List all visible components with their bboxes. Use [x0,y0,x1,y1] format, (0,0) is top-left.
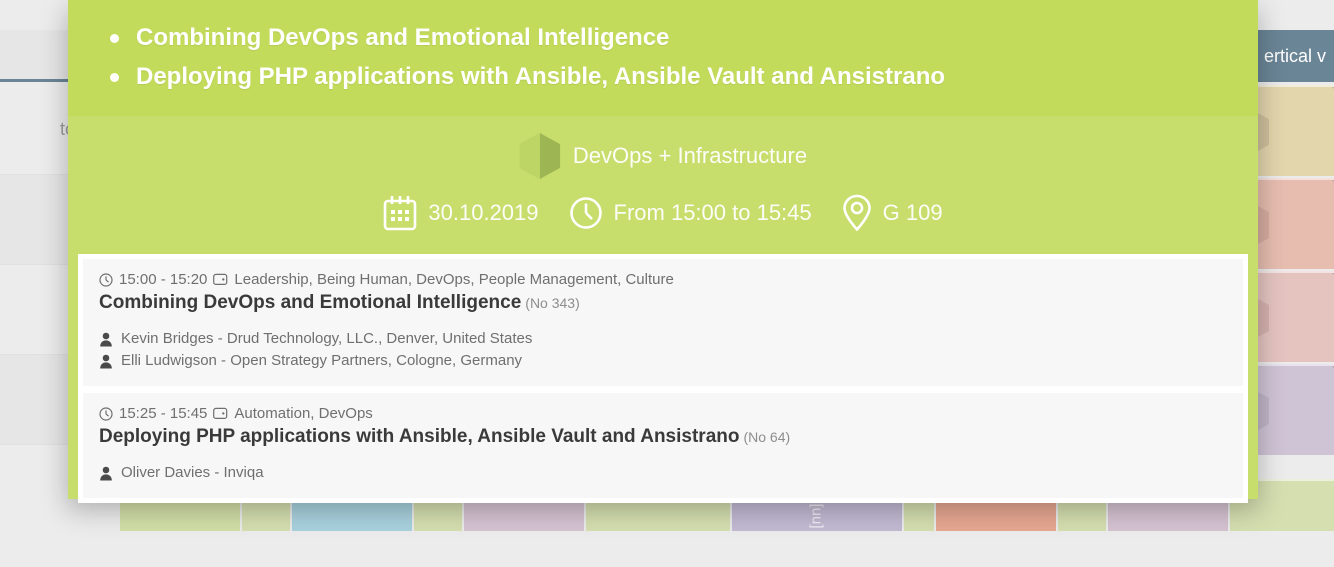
vertical-view-toggle-button[interactable]: ertical v [1248,30,1334,82]
session-detail-popup: Combining DevOps and Emotional Intellige… [68,0,1258,499]
popup-room-text: G 109 [883,200,943,226]
person-icon [99,332,113,347]
session-tags-text: Leadership, Being Human, DevOps, People … [234,271,673,288]
schedule-footer [0,531,1334,567]
popup-fact-time: From 15:00 to 15:45 [569,196,812,230]
popup-headline-item: Combining DevOps and Emotional Intellige… [102,18,1224,57]
popup-date-text: 30.10.2019 [428,200,538,226]
session-time: 15:25 - 15:45 [99,405,207,422]
speaker-name: Elli Ludwigson - Open Strategy Partners,… [121,350,522,372]
speaker-name: Oliver Davies - Inviqa [121,462,264,484]
session-entry[interactable]: 15:00 - 15:20 Leadership, Being Human, D… [83,259,1243,386]
popup-fact-date: 30.10.2019 [383,195,538,231]
person-icon [99,466,113,481]
session-card-vertical-label: [uu] [809,503,826,528]
popup-headline-list: Combining DevOps and Emotional Intellige… [102,18,1224,96]
session-tags: Automation, DevOps [213,405,372,422]
speaker-name: Kevin Bridges - Drud Technology, LLC., D… [121,328,532,350]
session-title-text: Combining DevOps and Emotional Intellige… [99,292,521,313]
cube-hexagon-icon [519,132,561,180]
clock-icon [99,407,113,421]
location-pin-icon [842,194,872,232]
session-time-text: 15:00 - 15:20 [119,271,207,288]
session-number: (No 64) [743,429,790,445]
popup-time-text: From 15:00 to 15:45 [614,200,812,226]
popup-session-list: 15:00 - 15:20 Leadership, Being Human, D… [78,254,1248,503]
session-title[interactable]: Combining DevOps and Emotional Intellige… [99,292,1227,314]
session-tags: Leadership, Being Human, DevOps, People … [213,271,673,288]
popup-headline-item: Deploying PHP applications with Ansible,… [102,57,1224,96]
popup-meta: DevOps + Infrastructure 30.10.2019 [68,116,1258,254]
popup-facts: 30.10.2019 From 15:00 to 15:45 G 109 [68,194,1258,232]
tag-icon [213,407,228,420]
clock-icon [569,196,603,230]
clock-icon [99,273,113,287]
person-icon [99,354,113,369]
tag-icon [213,273,228,286]
speaker-item[interactable]: Kevin Bridges - Drud Technology, LLC., D… [99,328,1227,350]
session-time: 15:00 - 15:20 [99,271,207,288]
session-title-text: Deploying PHP applications with Ansible,… [99,426,739,447]
speaker-item[interactable]: Oliver Davies - Inviqa [99,462,1227,484]
session-entry[interactable]: 15:25 - 15:45 Automation, DevOps Deployi… [83,393,1243,498]
session-meta: 15:25 - 15:45 Automation, DevOps [99,405,1227,422]
session-tags-text: Automation, DevOps [234,405,372,422]
session-meta: 15:00 - 15:20 Leadership, Being Human, D… [99,271,1227,288]
popup-fact-room: G 109 [842,194,943,232]
popup-track-name: DevOps + Infrastructure [573,143,807,169]
session-speakers: Oliver Davies - Inviqa [99,462,1227,484]
popup-headline: Combining DevOps and Emotional Intellige… [68,0,1258,116]
session-speakers: Kevin Bridges - Drud Technology, LLC., D… [99,328,1227,372]
calendar-icon [383,195,417,231]
session-number: (No 343) [525,295,579,311]
speaker-item[interactable]: Elli Ludwigson - Open Strategy Partners,… [99,350,1227,372]
session-title[interactable]: Deploying PHP applications with Ansible,… [99,426,1227,448]
popup-track: DevOps + Infrastructure [68,132,1258,180]
session-time-text: 15:25 - 15:45 [119,405,207,422]
